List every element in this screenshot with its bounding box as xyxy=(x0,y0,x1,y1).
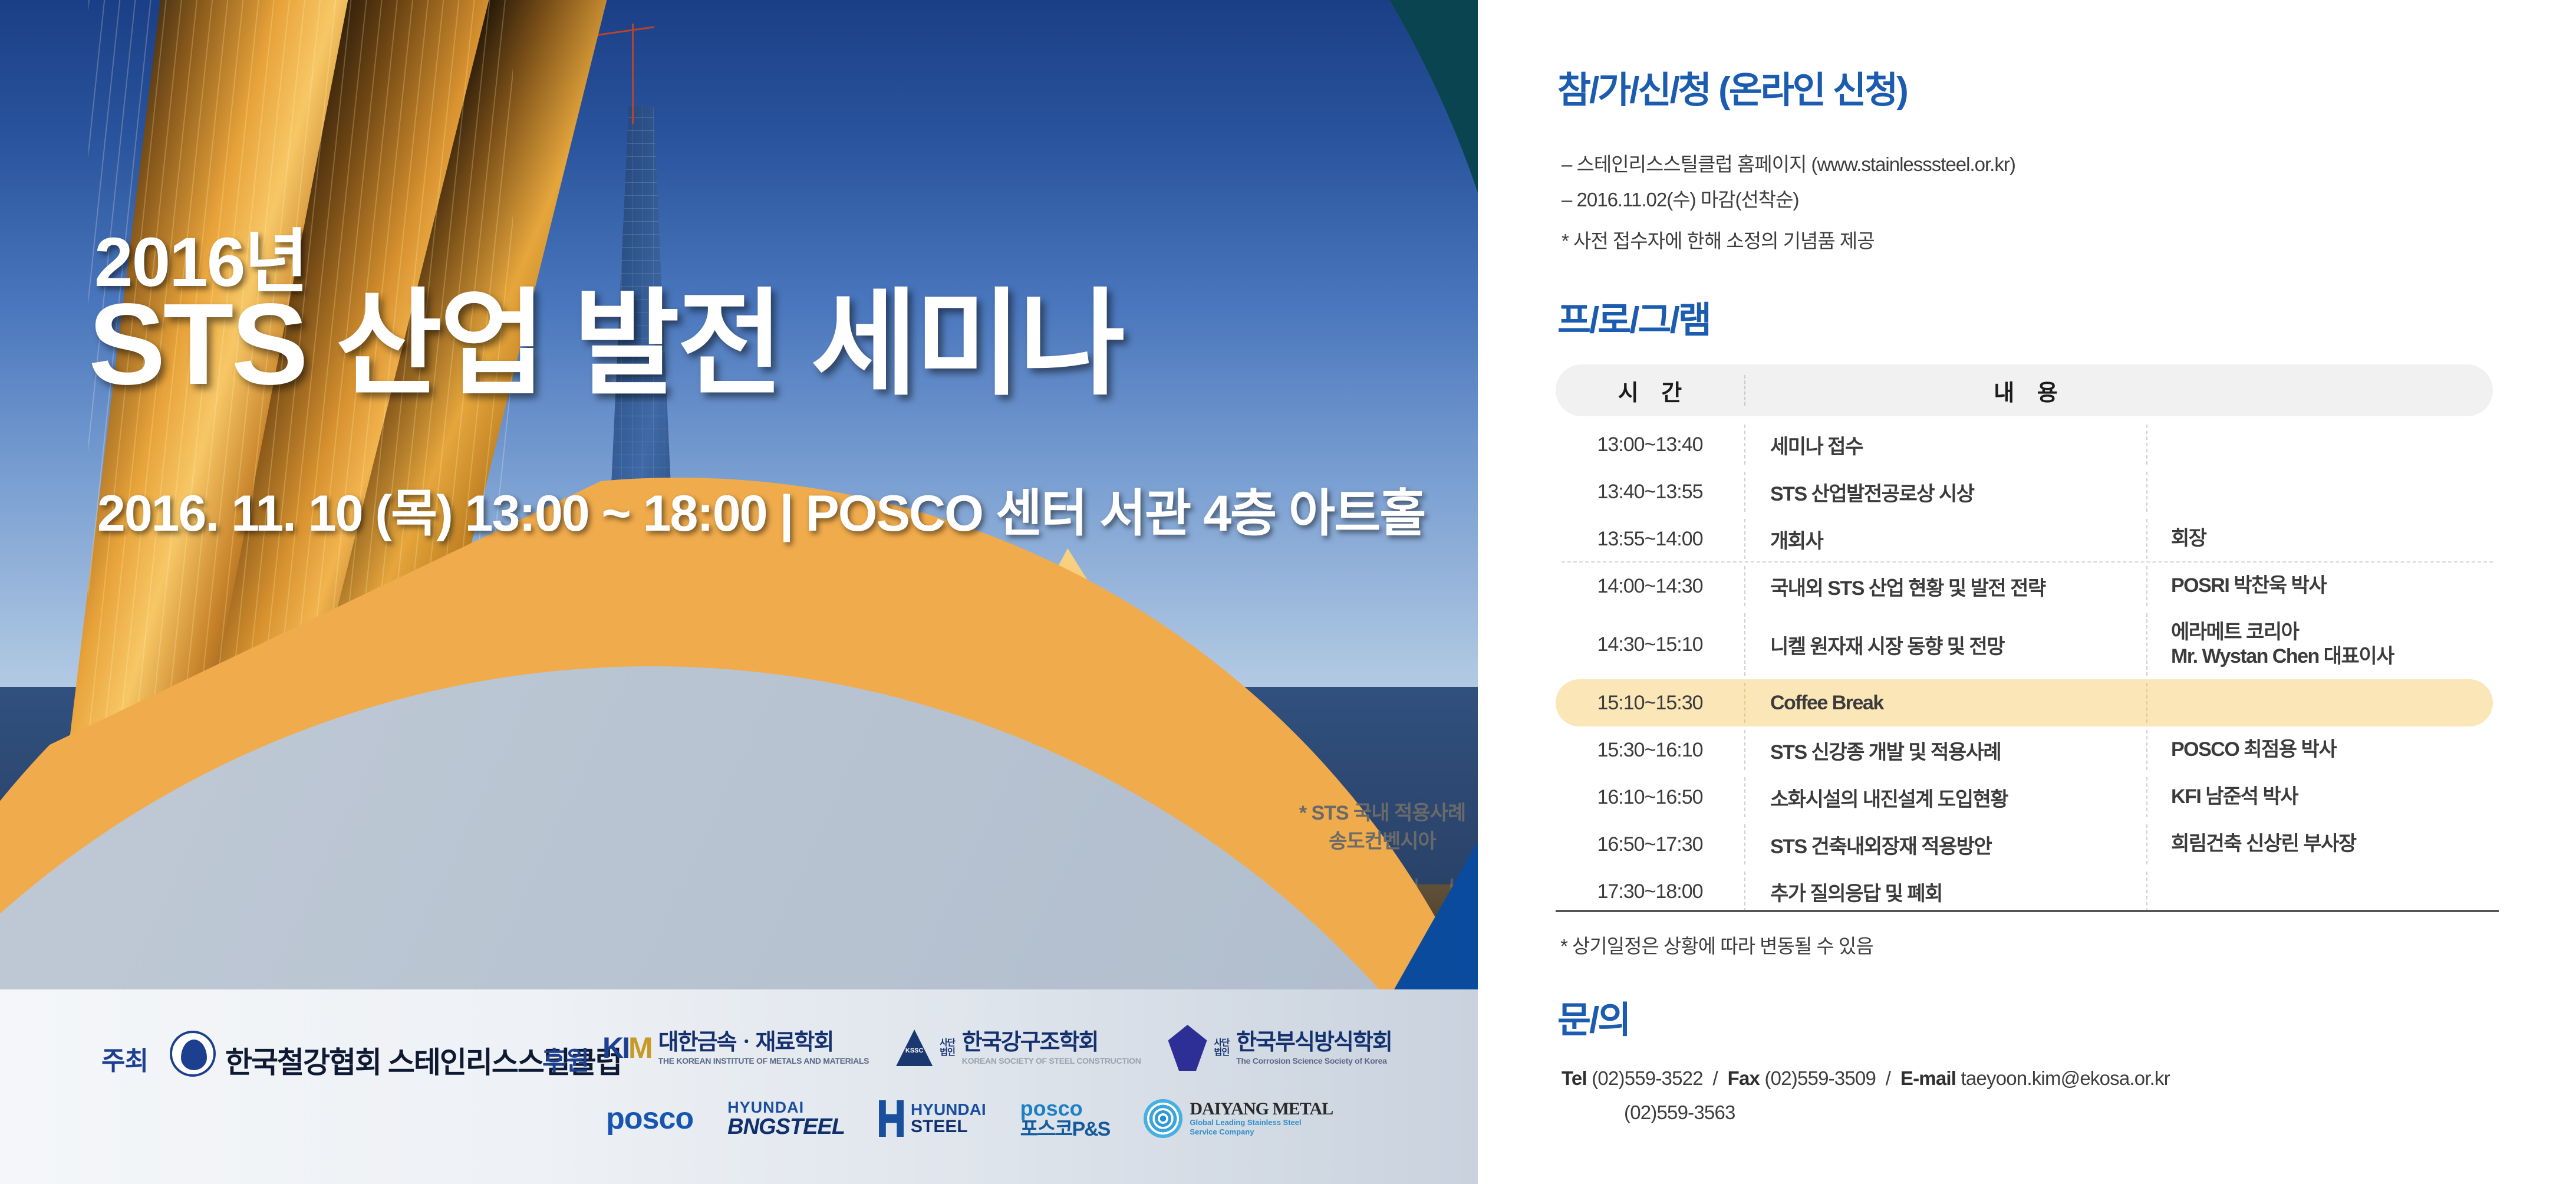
program-row-topic: 니켈 원자재 시장 동향 및 전망 xyxy=(1745,630,2146,659)
contact-heading: 문/의 xyxy=(1557,990,1629,1043)
logo-bng-bottom: BNGSTEEL xyxy=(727,1116,845,1138)
hero-visual-panel: 2016년 STS 산업 발전 세미나 2016. 11. 10 (목) 13:… xyxy=(0,0,1478,1184)
program-row: 15:30~16:10STS 신강종 개발 및 적용사례POSCO 최점용 박사 xyxy=(1556,726,2493,774)
logo-kim: KIM 대한금속ㆍ재료학회 THE KOREAN INSTITUTE OF ME… xyxy=(602,1031,869,1065)
contact-email-label: E-mail xyxy=(1900,1067,1956,1089)
hero-subtitle: 2016. 11. 10 (목) 13:00 ~ 18:00 | POSCO 센… xyxy=(97,472,1425,545)
program-row-time: 14:30~15:10 xyxy=(1556,633,1744,656)
program-row-topic: STS 산업발전공로상 시상 xyxy=(1745,478,2146,507)
sponsor-logo-row-societies: KIM 대한금속ㆍ재료학회 THE KOREAN INSTITUTE OF ME… xyxy=(602,1025,1392,1071)
contact-sep-1: / xyxy=(1713,1067,1718,1089)
program-row: 14:30~15:10니켈 원자재 시장 동향 및 전망에라메트 코리아Mr. … xyxy=(1556,610,2493,679)
logo-bng-top: HYUNDAI xyxy=(727,1100,845,1116)
program-table: 시 간 내 용 13:00~13:40세미나 접수13:40~13:55STS … xyxy=(1556,364,2493,915)
photo-credit-line-2: 송도컨벤시아 xyxy=(1285,827,1478,856)
program-table-bottom-rule xyxy=(1556,910,2499,912)
program-row-time: 16:50~17:30 xyxy=(1556,833,1744,856)
logo-daiyang-metal: DAIYANG METAL Global Leading Stainless S… xyxy=(1144,1099,1333,1138)
program-row: 16:10~16:50소화시설의 내진설계 도입현황KFI 남준석 박사 xyxy=(1556,774,2493,821)
program-row-topic: 국내외 STS 산업 현황 및 발전 전략 xyxy=(1745,572,2146,601)
logo-kssc: 사단법인 한국강구조학회 KOREAN SOCIETY OF STEEL CON… xyxy=(896,1030,1141,1066)
logo-strip-background xyxy=(0,989,1478,1184)
program-row-divider-right xyxy=(2146,871,2147,912)
seminar-poster: 2016년 STS 산업 발전 세미나 2016. 11. 10 (목) 13:… xyxy=(0,0,2576,1184)
column-header-time: 시 간 xyxy=(1556,374,1744,407)
program-row-speaker: POSCO 최점용 박사 xyxy=(2147,738,2493,762)
contact-tel-value: (02)559-3522 xyxy=(1592,1067,1703,1089)
program-row-speaker: 회장 xyxy=(2147,527,2493,551)
program-table-header: 시 간 내 용 xyxy=(1556,364,2493,416)
cssk-diamond-icon xyxy=(1168,1025,1207,1071)
logo-posco-pns-top: posco xyxy=(1020,1098,1110,1119)
program-row: 17:30~18:00추가 질의응답 및 폐회 xyxy=(1556,868,2493,915)
program-row-topic: STS 건축내외장재 적용방안 xyxy=(1745,830,2146,859)
program-row-time: 13:00~13:40 xyxy=(1556,433,1744,456)
program-row-time: 17:30~18:00 xyxy=(1556,880,1744,903)
contact-email-value[interactable]: taeyoon.kim@ekosa.or.kr xyxy=(1961,1067,2170,1089)
contact-details: Tel (02)559-3522 / Fax (02)559-3509 / E-… xyxy=(1562,1067,2170,1090)
logo-cssk-kr: 한국부식방식학회 xyxy=(1236,1031,1392,1054)
logo-hyundai-top: HYUNDAI xyxy=(911,1101,986,1118)
logo-cssk: 사단법인 한국부식방식학회 The Corrosion Science Soci… xyxy=(1168,1025,1392,1071)
program-row-time: 15:10~15:30 xyxy=(1556,692,1744,715)
logo-hyundai-bottom: STEEL xyxy=(911,1118,986,1136)
program-row-speaker: KFI 남준석 박사 xyxy=(2147,785,2493,809)
program-row-speaker: 희림건축 신상린 부사장 xyxy=(2147,832,2493,856)
program-row-time: 15:30~16:10 xyxy=(1556,739,1744,762)
apply-line-deadline: – 2016.11.02(수) 마감(선착순) xyxy=(1562,184,1799,212)
contact-fax-value: (02)559-3509 xyxy=(1764,1067,1876,1089)
program-table-body: 13:00~13:40세미나 접수13:40~13:55STS 산업발전공로상 … xyxy=(1556,421,2493,915)
hero-title: STS 산업 발전 세미나 xyxy=(88,283,1123,406)
program-row-topic: 추가 질의응답 및 폐회 xyxy=(1745,877,2146,906)
program-row: 14:00~14:30국내외 STS 산업 현황 및 발전 전략POSRI 박찬… xyxy=(1556,563,2493,610)
sponsor-label: 후원 xyxy=(542,1040,589,1077)
program-row-topic: STS 신강종 개발 및 적용사례 xyxy=(1745,736,2146,765)
program-row-topic: 개회사 xyxy=(1745,525,2146,554)
kssc-triangle-icon xyxy=(896,1030,933,1066)
program-row-time: 13:55~14:00 xyxy=(1556,528,1744,551)
apply-line-homepage[interactable]: – 스테인리스스틸클럽 홈페이지 (www.stainlesssteel.or.… xyxy=(1562,149,2015,177)
program-row-divider-right xyxy=(2146,683,2147,723)
logo-kssc-en: KOREAN SOCIETY OF STEEL CONSTRUCTION xyxy=(962,1057,1141,1065)
sponsor-logo-row-companies: posco HYUNDAI BNGSTEEL HYUNDAI STEEL pos… xyxy=(606,1098,1333,1139)
posco-wordmark: posco xyxy=(606,1101,693,1136)
logo-daiyang-bottom: Global Leading Stainless SteelService Co… xyxy=(1190,1118,1333,1137)
logo-kssc-kr: 한국강구조학회 xyxy=(962,1031,1141,1054)
kim-mark-icon: KIM xyxy=(602,1031,651,1065)
photo-credit-line-1: * STS 국내 적용사례 xyxy=(1285,799,1478,827)
program-schedule-note: * 상기일정은 상황에 따라 변동될 수 있음 xyxy=(1560,930,1873,959)
program-row-topic: 소화시설의 내진설계 도입현황 xyxy=(1745,783,2146,812)
logo-bng-steel: HYUNDAI BNGSTEEL xyxy=(727,1100,845,1138)
logo-daiyang-top: DAIYANG METAL xyxy=(1190,1100,1333,1118)
logo-kim-kr: 대한금속ㆍ재료학회 xyxy=(658,1031,869,1054)
program-row-time: 16:10~16:50 xyxy=(1556,786,1744,809)
program-row-divider-right xyxy=(2146,472,2147,512)
program-row-speaker: POSRI 박찬욱 박사 xyxy=(2147,574,2493,598)
column-header-content: 내 용 xyxy=(1746,374,2493,407)
daiyang-target-icon xyxy=(1144,1099,1182,1138)
program-row-topic: 세미나 접수 xyxy=(1745,430,2146,459)
logo-posco-pns-bottom: 포스코P&S xyxy=(1020,1119,1110,1139)
program-row: 13:00~13:40세미나 접수 xyxy=(1556,421,2493,468)
logo-kim-en: THE KOREAN INSTITUTE OF METALS AND MATER… xyxy=(658,1057,869,1065)
program-row-speaker: 에라메트 코리아Mr. Wystan Chen 대표이사 xyxy=(2147,620,2493,669)
program-row: 13:55~14:00개회사회장 xyxy=(1556,515,2493,563)
contact-tel-label: Tel xyxy=(1562,1067,1587,1089)
program-row-topic: Coffee Break xyxy=(1745,692,2146,715)
contact-fax-label: Fax xyxy=(1728,1067,1760,1089)
program-row: 16:50~17:30STS 건축내외장재 적용방안희림건축 신상린 부사장 xyxy=(1556,821,2493,868)
logo-posco-pns: posco 포스코P&S xyxy=(1020,1098,1110,1139)
photo-crane-mast xyxy=(632,24,634,124)
program-row: 15:10~15:30Coffee Break xyxy=(1556,679,2493,726)
info-panel: 참/가/신/청 (온라인 신청) – 스테인리스스틸클럽 홈페이지 (www.s… xyxy=(1478,0,2576,1184)
program-row: 13:40~13:55STS 산업발전공로상 시상 xyxy=(1556,468,2493,515)
logo-hyundai-steel: HYUNDAI STEEL xyxy=(879,1100,986,1137)
photo-credit: * STS 국내 적용사례 송도컨벤시아 xyxy=(1285,799,1478,856)
apply-heading: 참/가/신/청 (온라인 신청) xyxy=(1557,60,1907,113)
logo-kssc-badge: 사단법인 xyxy=(940,1038,955,1057)
program-row-time: 13:40~13:55 xyxy=(1556,481,1744,504)
hyundai-h-icon xyxy=(879,1100,904,1137)
logo-cssk-en: The Corrosion Science Society of Korea xyxy=(1236,1057,1392,1065)
apply-gift-note: * 사전 접수자에 한해 소정의 기념품 제공 xyxy=(1562,225,1875,254)
program-row-divider-right xyxy=(2146,425,2147,465)
logo-cssk-badge: 사단법인 xyxy=(1214,1038,1230,1057)
logo-posco: posco xyxy=(606,1101,693,1136)
program-row-time: 14:00~14:30 xyxy=(1556,575,1744,598)
contact-tel-secondary: (02)559-3563 xyxy=(1624,1101,1735,1124)
contact-sep-2: / xyxy=(1886,1067,1890,1089)
program-heading: 프/로/그/램 xyxy=(1557,290,1710,343)
ksa-emblem-icon xyxy=(170,1031,216,1077)
host-label: 주최 xyxy=(101,1040,148,1077)
